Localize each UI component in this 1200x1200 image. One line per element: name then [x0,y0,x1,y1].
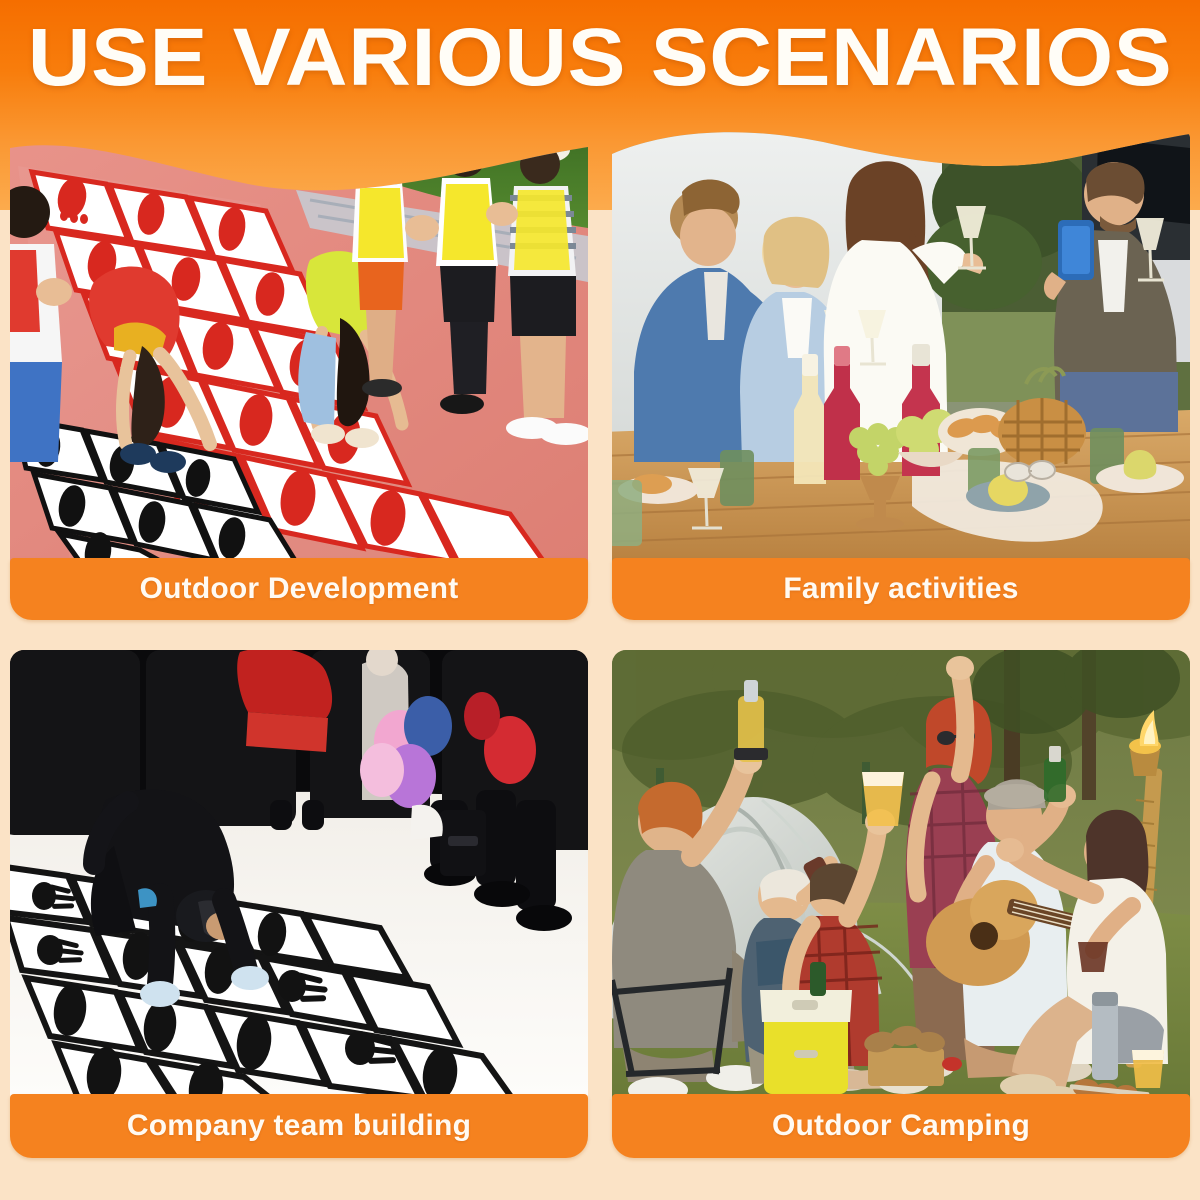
photo-outdoor-development [10,132,588,562]
scenario-card-family-activities[interactable]: Family activities [612,132,1190,620]
page-title: USE VARIOUS SCENARIOS [0,12,1200,104]
scenario-card-outdoor-development[interactable]: Outdoor Development [10,132,588,620]
caption-bar-outdoor-camping: Outdoor Camping [612,1094,1190,1158]
family-activities-illustration [612,132,1190,562]
caption-bar-company-team-building: Company team building [10,1094,588,1158]
caption-label: Outdoor Development [140,572,459,606]
scenario-card-company-team-building[interactable]: Company team building [10,650,588,1158]
photo-company-team-building [10,650,588,1098]
promo-graphic: USE VARIOUS SCENARIOS [0,0,1200,1200]
caption-bar-family-activities: Family activities [612,558,1190,620]
company-team-building-illustration [10,650,588,1098]
scenario-grid: Outdoor Development [0,132,1200,1172]
scenario-card-outdoor-camping[interactable]: Outdoor Camping [612,650,1190,1158]
photo-outdoor-camping [612,650,1190,1098]
outdoor-development-illustration [10,132,588,562]
caption-label: Company team building [127,1109,471,1143]
caption-bar-outdoor-development: Outdoor Development [10,558,588,620]
outdoor-camping-illustration [612,650,1190,1098]
caption-label: Family activities [783,572,1018,606]
photo-family-activities [612,132,1190,562]
caption-label: Outdoor Camping [772,1109,1030,1143]
